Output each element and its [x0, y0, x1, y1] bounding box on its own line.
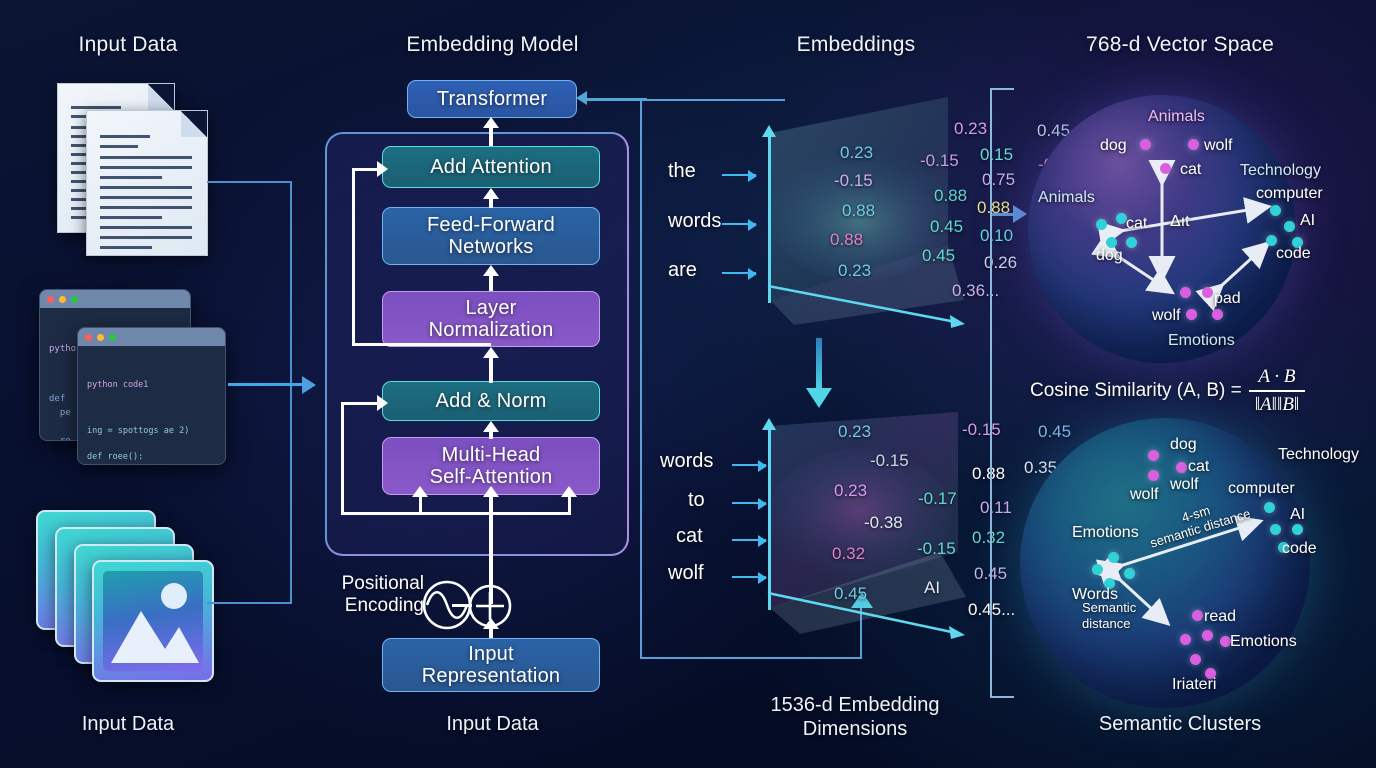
cluster-point [1180, 634, 1191, 645]
footer-semantic-clusters: Semantic Clusters [1040, 713, 1320, 737]
cluster-label: Emotions [1168, 332, 1235, 350]
embedding-value: 0.75 [982, 170, 1015, 190]
node-input-representation[interactable]: Input Representation [382, 638, 600, 692]
cluster-point [1190, 654, 1201, 665]
cluster-point [1126, 237, 1137, 248]
embedding-value: 0.36... [952, 281, 999, 301]
token-cat: cat [676, 525, 703, 548]
cosine-label: Cosine Similarity (A, B) = [1030, 380, 1242, 402]
code-window-titlebar [78, 328, 225, 346]
semantic-clusters-arrows [1020, 418, 1310, 708]
token-are: are [668, 259, 697, 282]
cluster-label: AI [1290, 506, 1305, 524]
token-to: to [688, 489, 705, 512]
cosine-numerator: A · B [1252, 366, 1301, 390]
embeddings-top-group: the words are 0.230.230.45-0.150.15-0.15… [660, 95, 980, 335]
embedding-value: 0.32 [832, 544, 865, 564]
embedding-value: 0.88 [934, 186, 967, 206]
cluster-point [1108, 552, 1119, 563]
cluster-label: Δıt [1170, 213, 1190, 231]
token-arrow [732, 576, 766, 578]
cluster-label: cat [1180, 161, 1201, 179]
cluster-label: read [1204, 608, 1236, 626]
cluster-label: dog [1100, 137, 1127, 155]
token-arrow [722, 174, 756, 176]
embedding-value: 0.32 [972, 528, 1005, 548]
node-add-and-norm[interactable]: Add & Norm [382, 381, 600, 421]
cluster-point [1284, 221, 1295, 232]
embedding-value: 0.45 [922, 246, 955, 266]
embedding-value: 0.10 [980, 226, 1013, 246]
token-words: words [660, 450, 713, 473]
token-wolf: wolf [668, 562, 704, 585]
label-positional-encoding: Positional Encoding [314, 573, 424, 617]
cosine-similarity-formula: Cosine Similarity (A, B) = A · B ‖A‖‖B‖ [1030, 366, 1305, 416]
cluster-label: Technology [1278, 446, 1359, 464]
header-input-data: Input Data [26, 33, 230, 57]
cluster-point [1212, 309, 1223, 320]
cluster-point [1176, 462, 1187, 473]
embedding-value: 0.88 [830, 230, 863, 250]
cluster-point [1124, 568, 1135, 579]
cosine-denominator: ‖A‖‖B‖ [1249, 390, 1306, 416]
page-fold-icon [148, 84, 174, 110]
embedding-value: 0.23 [834, 481, 867, 501]
cluster-label: Technology [1240, 162, 1321, 180]
cluster-point [1092, 564, 1103, 575]
node-layer-normalization[interactable]: Layer Normalization [382, 291, 600, 347]
header-embedding-model: Embedding Model [350, 33, 635, 57]
cluster-point [1202, 630, 1213, 641]
cluster-point [1192, 610, 1203, 621]
embedding-value: 0.11 [980, 498, 1012, 518]
vector-space-contents: AnimalsdogwolfcatTechnologyAnimalscomput… [1028, 95, 1296, 363]
cluster-point [1180, 287, 1191, 298]
token-the: the [668, 160, 696, 183]
footer-embedding-dimensions: 1536-d Embedding Dimensions [700, 694, 1010, 741]
annotation-line-1: Semantic [1082, 600, 1136, 616]
token-arrow [732, 464, 766, 466]
embedding-value: -0.38 [864, 513, 903, 533]
annotation-line-2: distance [1082, 616, 1136, 632]
cluster-label: wolf [1170, 476, 1198, 494]
code-lines-front: ing = spottogs ae 2) def roee(): o ⩸ ска… [87, 425, 216, 465]
cluster-label: Animals [1148, 108, 1205, 126]
header-vector-space: 768-d Vector Space [1040, 33, 1320, 57]
diagram-canvas: Input Data Embedding Model Embeddings 76… [0, 0, 1376, 768]
semantic-clusters-contents: dogTechnologycatwolfcomputerwolfAIEmotio… [1020, 418, 1310, 708]
embedding-value: -0.17 [918, 489, 957, 509]
embedding-value: -0.15 [962, 420, 1001, 440]
cluster-label: cat [1126, 215, 1147, 233]
cluster-label: code [1282, 540, 1317, 558]
embeddings-bottom-group: words to cat wolf 0.23-0.150.45-0.150.88… [660, 412, 980, 662]
token-arrow [732, 539, 766, 541]
code-title-front: python code1 [87, 379, 216, 392]
cluster-label: dog [1096, 247, 1123, 265]
annotation-semantic-distance-bottom: Semantic distance [1082, 600, 1136, 633]
node-add-attention[interactable]: Add Attention [382, 146, 600, 188]
page-fold-icon [181, 111, 207, 137]
token-arrow [732, 502, 766, 504]
footer-embedding-dimensions-line1: 1536-d Embedding [700, 694, 1010, 718]
cluster-label: pad [1214, 290, 1241, 308]
embedding-value: -0.15 [920, 151, 959, 171]
cluster-label: wolf [1204, 137, 1232, 155]
code-window-front-body: python code1 ing = spottogs ae 2) def ro… [78, 346, 225, 465]
cluster-label: cat [1188, 458, 1209, 476]
cluster-label: wolf [1152, 307, 1180, 325]
cluster-point [1264, 502, 1275, 513]
embedding-value: AI [924, 578, 940, 598]
cluster-point [1160, 163, 1171, 174]
cluster-point [1148, 470, 1159, 481]
cluster-point [1096, 219, 1107, 230]
embedding-value: -0.15 [834, 171, 873, 191]
cosine-fraction: A · B ‖A‖‖B‖ [1249, 366, 1306, 416]
embedding-value: 0.88 [972, 464, 1005, 484]
cluster-label: computer [1256, 185, 1323, 203]
token-arrow [722, 272, 756, 274]
embedding-value: 0.23 [838, 422, 871, 442]
cluster-point [1292, 524, 1303, 535]
cluster-point [1186, 309, 1197, 320]
embedding-value: 0.26 [984, 253, 1017, 273]
plus-circle-icon [467, 583, 513, 629]
cluster-point [1188, 139, 1199, 150]
cluster-label: dog [1170, 436, 1197, 454]
code-window-front[interactable]: python code1 ing = spottogs ae 2) def ro… [77, 327, 226, 465]
token-arrow [722, 223, 756, 225]
cluster-label: Emotions [1230, 633, 1297, 651]
cluster-label: Iriateri [1172, 676, 1216, 694]
embedding-value: -0.15 [870, 451, 909, 471]
cluster-label: wolf [1130, 486, 1158, 504]
header-embeddings: Embeddings [715, 33, 997, 57]
embedding-value: 0.45 [930, 217, 963, 237]
embedding-value: 0.45 [834, 584, 867, 604]
embedding-value: 0.15 [980, 145, 1013, 165]
node-transformer[interactable]: Transformer [407, 80, 577, 118]
footer-embedding-dimensions-line2: Dimensions [700, 718, 1010, 742]
cluster-point [1202, 287, 1213, 298]
cluster-point [1270, 205, 1281, 216]
cluster-point [1270, 524, 1281, 535]
embedding-value: 0.23 [840, 143, 873, 163]
footer-input-data-left: Input Data [26, 713, 230, 737]
cluster-label: Emotions [1072, 524, 1139, 542]
cluster-point [1140, 139, 1151, 150]
token-words: words [668, 210, 721, 233]
cluster-point [1148, 450, 1159, 461]
embedding-value: 0.23 [954, 119, 987, 139]
footer-input-data-center: Input Data [350, 713, 635, 737]
node-feed-forward-networks[interactable]: Feed-Forward Networks [382, 207, 600, 265]
embedding-value: 0.23 [838, 261, 871, 281]
cluster-label: code [1276, 245, 1311, 263]
embedding-value: 0.88 [842, 201, 875, 221]
cluster-label: AI [1300, 212, 1315, 230]
embedding-value: -0.15 [917, 539, 956, 559]
code-window-titlebar [40, 290, 190, 308]
cluster-label: Animals [1038, 189, 1095, 207]
